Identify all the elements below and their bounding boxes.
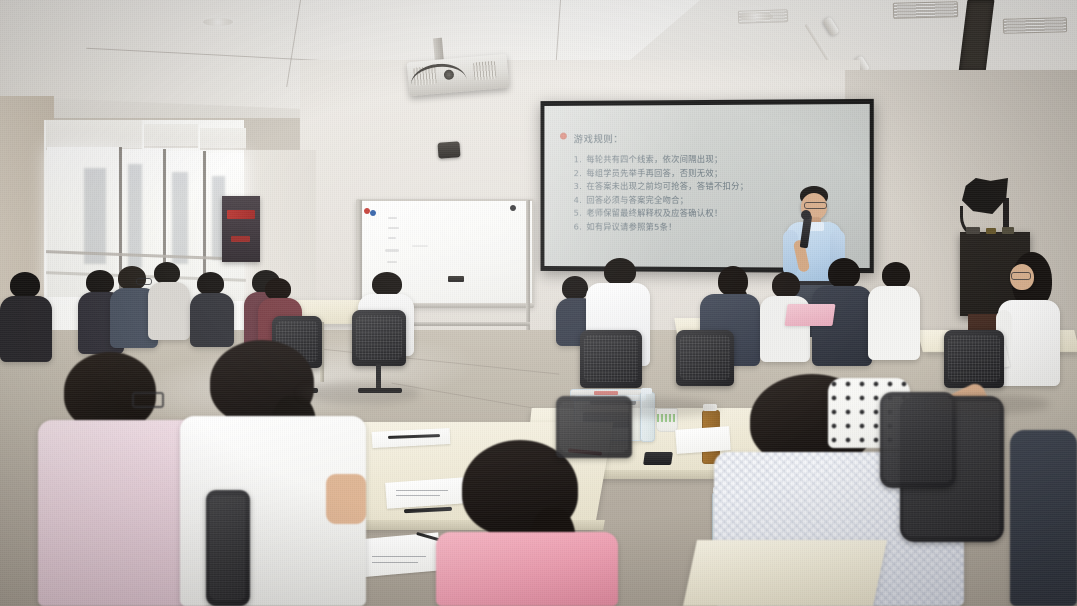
exterior-building — [84, 168, 106, 264]
rule-text: 如有异议请参照第5条！ — [586, 222, 676, 232]
slide-title: 游戏规则： — [574, 130, 854, 145]
projector-vent — [473, 61, 496, 81]
attendee-hair — [772, 272, 800, 298]
office-chair — [206, 490, 250, 606]
attendee — [868, 262, 920, 360]
cabinet-device — [1002, 227, 1014, 234]
attendee-hair — [828, 258, 860, 288]
chair-mesh — [584, 335, 638, 382]
rule-number: 3. — [574, 180, 587, 193]
window-blind — [200, 128, 246, 150]
attendee-hair — [604, 258, 636, 285]
attendee-glasses-icon — [132, 392, 164, 408]
crate-label — [594, 391, 618, 395]
rule-number: 6. — [574, 221, 587, 235]
attendee — [0, 272, 52, 362]
standing-woman-glasses-icon — [1011, 272, 1031, 280]
exterior-building — [172, 172, 188, 264]
whiteboard-marking — [388, 227, 399, 229]
attendee-torso — [190, 293, 234, 347]
window-blind — [144, 124, 198, 148]
rule-number: 5. — [574, 207, 587, 220]
attendee-arm — [326, 474, 366, 524]
paper-writing — [372, 562, 418, 563]
whiteboard-marking — [388, 217, 397, 219]
attendee-hair — [882, 262, 910, 288]
whiteboard-marking — [385, 249, 399, 252]
chair-mesh — [210, 495, 246, 600]
attendee — [190, 272, 234, 346]
poster-headline — [227, 210, 255, 219]
attendee-hair — [197, 272, 224, 295]
whiteboard-magnet — [510, 205, 516, 211]
attendee-shirt — [436, 532, 618, 606]
office-chair — [580, 330, 642, 388]
poster-subline — [231, 236, 250, 242]
cabinet-device — [986, 228, 996, 234]
standing-woman — [996, 252, 1062, 402]
whiteboard-marking — [388, 237, 396, 239]
ceiling-downlight — [203, 18, 233, 26]
rule-number: 1. — [574, 153, 587, 166]
attendee-torso — [1010, 430, 1077, 606]
pink-folder — [784, 304, 835, 326]
attendee-hair — [10, 272, 40, 298]
attendee-torso — [868, 286, 920, 360]
rule-text: 老师保留最终解释权及应答确认权！ — [586, 208, 722, 218]
paper-writing — [372, 556, 426, 557]
whiteboard-magnet — [370, 210, 376, 216]
slide-rule-item: 2.每组学员先举手再回答，否则无效； — [574, 166, 854, 180]
attendee-front-center-woman — [434, 440, 622, 606]
table-front-right — [683, 540, 887, 606]
slide-rule-item: 1.每轮共有四个线索，依次间隔出现； — [574, 153, 854, 167]
attendee-hair — [562, 276, 588, 300]
rule-text: 每组学员先举手再回答，否则无效； — [586, 168, 722, 178]
presenter-glasses-icon — [804, 202, 827, 209]
bottle-cap — [641, 388, 652, 394]
floor-shadow — [300, 382, 420, 404]
laptop — [643, 452, 673, 465]
window-blind — [46, 120, 142, 150]
whiteboard-marking — [387, 261, 397, 263]
cabinet-device — [966, 227, 980, 234]
hvac-vent — [1003, 17, 1067, 34]
attendee — [148, 262, 190, 340]
floor-shadow — [580, 398, 720, 418]
ceiling-downlight — [739, 12, 773, 21]
rule-text: 回答必须与答案完全吻合； — [586, 195, 688, 205]
classroom-photo-scene: 游戏规则： 1.每轮共有四个线索，依次间隔出现； 2.每组学员先举手再回答，否则… — [0, 0, 1077, 606]
hvac-vent — [893, 1, 958, 19]
wall-poster — [222, 196, 260, 262]
rule-number: 4. — [574, 194, 587, 207]
rule-number: 2. — [574, 167, 587, 180]
attendee-hair — [154, 262, 180, 284]
rule-text: 每轮共有四个线索，依次间隔出现； — [586, 154, 722, 164]
floor-shadow — [930, 394, 1050, 414]
ceiling-speaker — [437, 141, 460, 158]
microphone-head — [801, 210, 811, 220]
whiteboard-marking — [412, 245, 428, 247]
attendee-right-edge — [1010, 430, 1077, 606]
rule-text: 在答案未出现之前均可抢答，答错不扣分； — [586, 181, 748, 191]
attendee-torso — [812, 286, 872, 366]
attendee-torso — [148, 282, 190, 340]
slide-bullet-icon — [560, 133, 567, 140]
whiteboard-eraser — [448, 276, 464, 282]
attendee-hair — [64, 352, 156, 430]
attendee-hair — [372, 272, 402, 296]
attendee-hair — [265, 278, 291, 300]
